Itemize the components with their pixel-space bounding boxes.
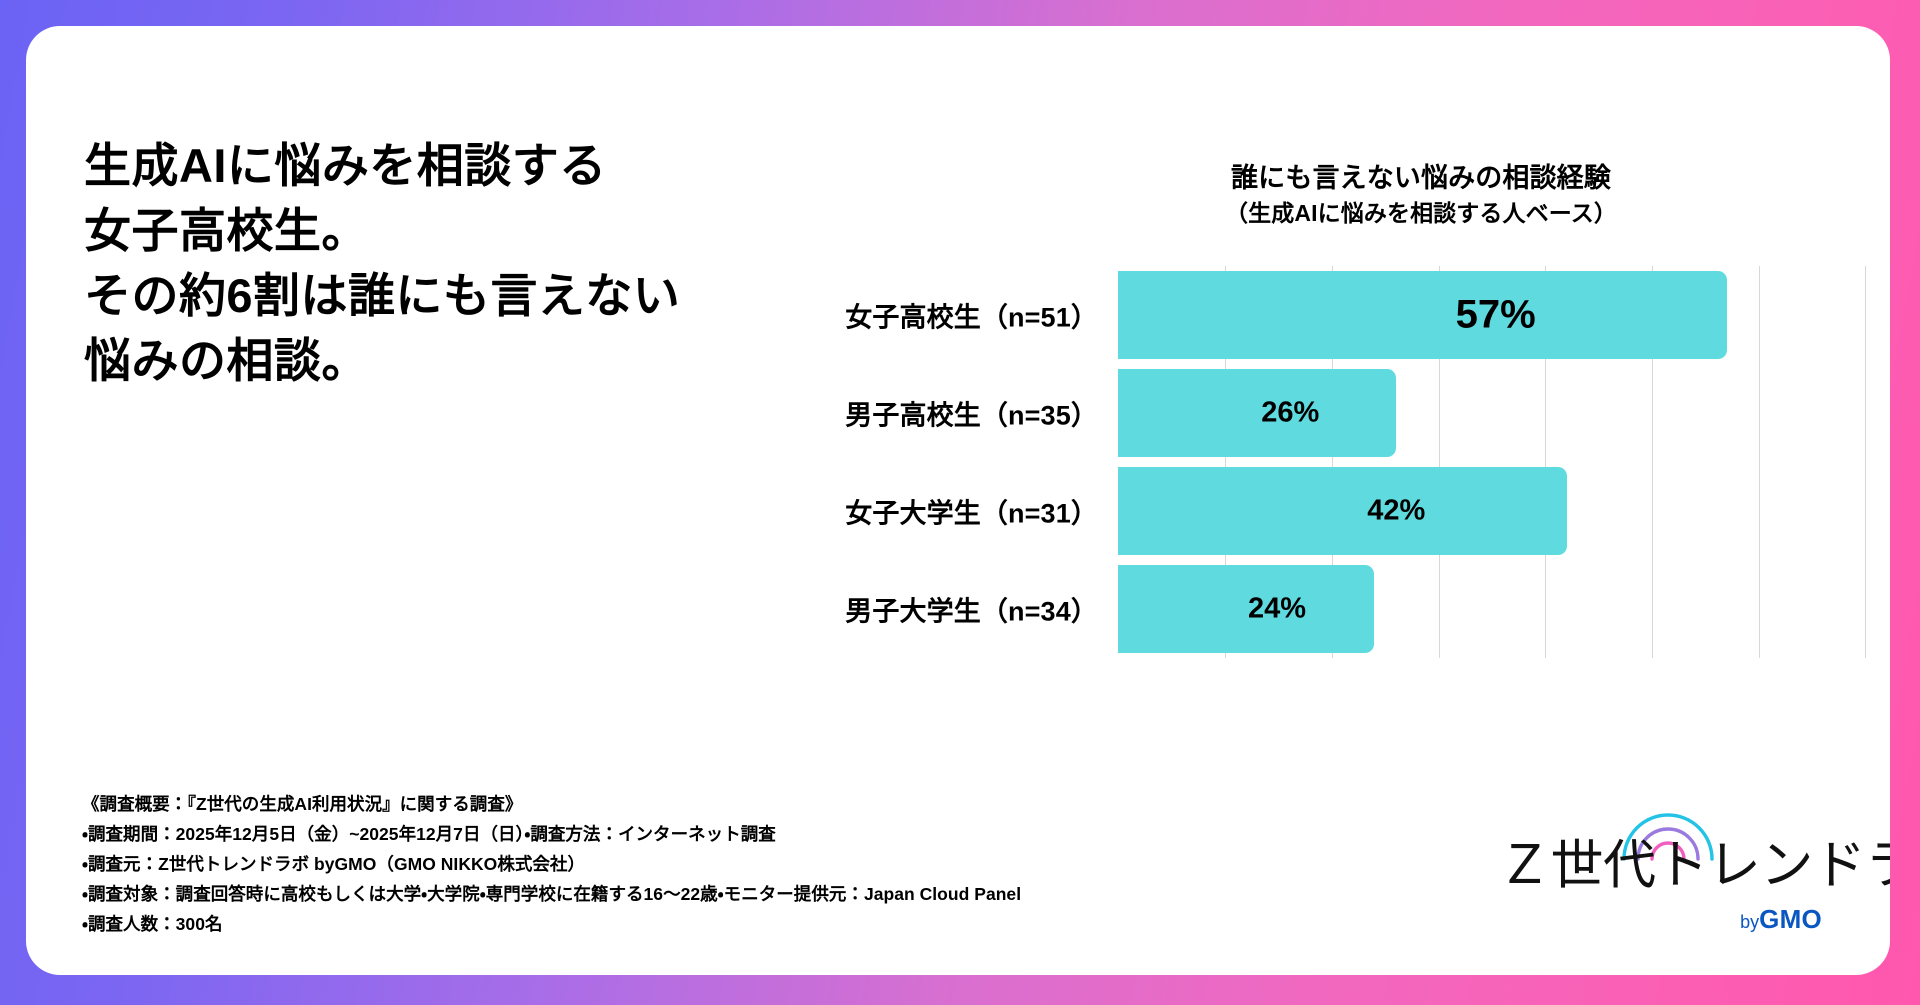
bar-value-label: 24% [1248, 593, 1306, 626]
category-label: 男子大学生（n=34） [816, 590, 1098, 629]
category-label: 男子高校生（n=35） [816, 394, 1098, 433]
logo-bygmo: byGMO [1740, 904, 1822, 935]
footnote-line-1: 《調査概要：『Z世代の生成AI利用状況』に関する調査》 [82, 789, 1021, 819]
chart-title-block: 誰にも言えない悩みの相談経験 （生成AIに悩みを相談する人ベース） [976, 162, 1866, 228]
bar-value-label: 57% [1456, 293, 1536, 338]
chart-plot-area: 女子高校生（n=51）男子高校生（n=35）女子大学生（n=31）男子大学生（n… [816, 266, 1866, 658]
footnote-line-5: ・調査人数：300名 [82, 909, 1021, 939]
bar [1118, 565, 1374, 653]
category-label: 女子高校生（n=51） [816, 296, 1098, 335]
bar [1118, 467, 1567, 555]
chart-subtitle: （生成AIに悩みを相談する人ベース） [976, 199, 1866, 228]
logo-wordmark: Ｚ世代トレンドラボ [1498, 839, 1828, 892]
poster-background: 生成AIに悩みを相談する 女子高校生。 その約6割は誰にも言えない 悩みの相談。… [0, 0, 1920, 1005]
bar-chart: 誰にも言えない悩みの相談経験 （生成AIに悩みを相談する人ベース） 女子高校生（… [816, 162, 1866, 722]
bar [1118, 271, 1727, 359]
logo-by-text: by [1740, 912, 1759, 932]
footnote-line-4: ・調査対象：調査回答時に高校もしくは大学・大学院・専門学校に在籍する16〜22歳… [82, 879, 1021, 909]
category-axis: 女子高校生（n=51）男子高校生（n=35）女子大学生（n=31）男子大学生（n… [816, 266, 1104, 658]
headline-line-1: 生成AIに悩みを相談する [84, 134, 784, 199]
footnote-line-3: ・調査元：Z世代トレンドラボ byGMO（GMO NIKKO株式会社） [82, 849, 1021, 879]
survey-footnotes: 《調査概要：『Z世代の生成AI利用状況』に関する調査》 ・調査期間：2025年1… [82, 789, 1021, 939]
bar-row: 24% [1118, 565, 1866, 653]
category-label: 女子大学生（n=31） [816, 492, 1098, 531]
logo-gmo-text: GMO [1759, 904, 1822, 934]
content-card: 生成AIに悩みを相談する 女子高校生。 その約6割は誰にも言えない 悩みの相談。… [26, 26, 1890, 975]
logo: Ｚ世代トレンドラボ byGMO [1498, 809, 1828, 935]
chart-title: 誰にも言えない悩みの相談経験 [976, 162, 1866, 195]
footnote-line-2: ・調査期間：2025年12月5日（金）~2025年12月7日（日）・調査方法：イ… [82, 819, 1021, 849]
bar-row: 26% [1118, 369, 1866, 457]
bar-value-label: 42% [1367, 495, 1425, 528]
headline-line-4: 悩みの相談。 [84, 329, 784, 394]
headline: 生成AIに悩みを相談する 女子高校生。 その約6割は誰にも言えない 悩みの相談。 [84, 134, 784, 393]
headline-line-2: 女子高校生。 [84, 199, 784, 264]
bar-row: 57% [1118, 271, 1866, 359]
bar [1118, 369, 1396, 457]
bar-row: 42% [1118, 467, 1866, 555]
bar-value-label: 26% [1261, 397, 1319, 430]
bars-area: 57%26%42%24% [1118, 266, 1866, 658]
headline-line-3: その約6割は誰にも言えない [84, 264, 784, 329]
